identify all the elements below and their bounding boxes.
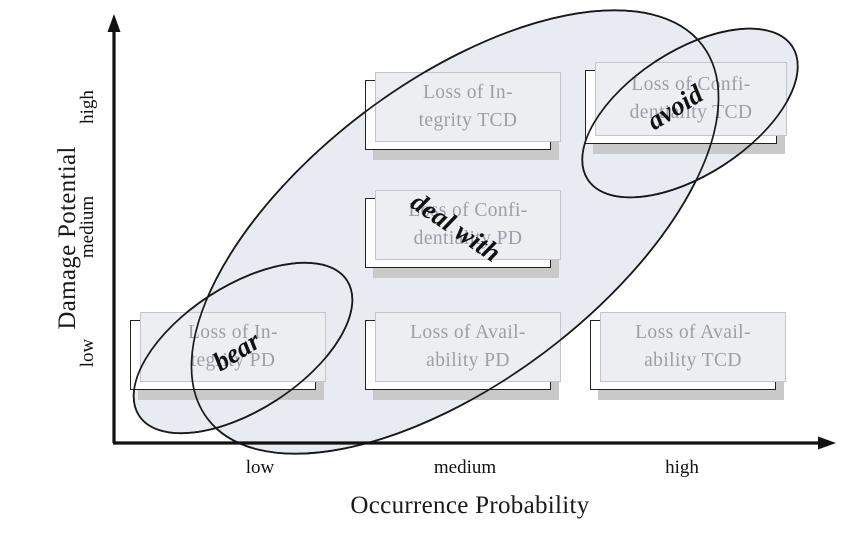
cell-front-rect: Loss of Avail- ability TCD	[600, 312, 786, 382]
cell-front-rect: Loss of In- tegrity TCD	[375, 72, 561, 142]
y-tick-low: low	[77, 293, 99, 413]
cell-label-line1: Loss of In-	[423, 79, 513, 107]
x-axis-title: Occurrence Probability	[220, 492, 720, 520]
x-tick-low: low	[190, 457, 330, 479]
cell-loss-of-availability-tcd[interactable]: Loss of Avail- ability TCD	[590, 320, 776, 390]
y-tick-medium: medium	[77, 167, 99, 287]
cell-front-rect: Loss of Avail- ability PD	[375, 312, 561, 382]
cell-label-line2: ability TCD	[644, 347, 742, 375]
cell-loss-of-integrity-tcd[interactable]: Loss of In- tegrity TCD	[365, 80, 551, 150]
y-tick-high: high	[77, 47, 99, 167]
cell-label-line1: Loss of Avail-	[635, 319, 751, 347]
cell-label-line1: Loss of Avail-	[410, 319, 526, 347]
cell-label-line2: tegrity TCD	[419, 107, 518, 135]
cell-label-line2: ability PD	[426, 347, 510, 375]
x-tick-medium: medium	[395, 457, 535, 479]
risk-matrix-diagram: Loss of In- tegrity TCD Loss of Confi- d…	[0, 0, 855, 537]
x-tick-high: high	[612, 457, 752, 479]
cell-loss-of-availability-pd[interactable]: Loss of Avail- ability PD	[365, 320, 551, 390]
